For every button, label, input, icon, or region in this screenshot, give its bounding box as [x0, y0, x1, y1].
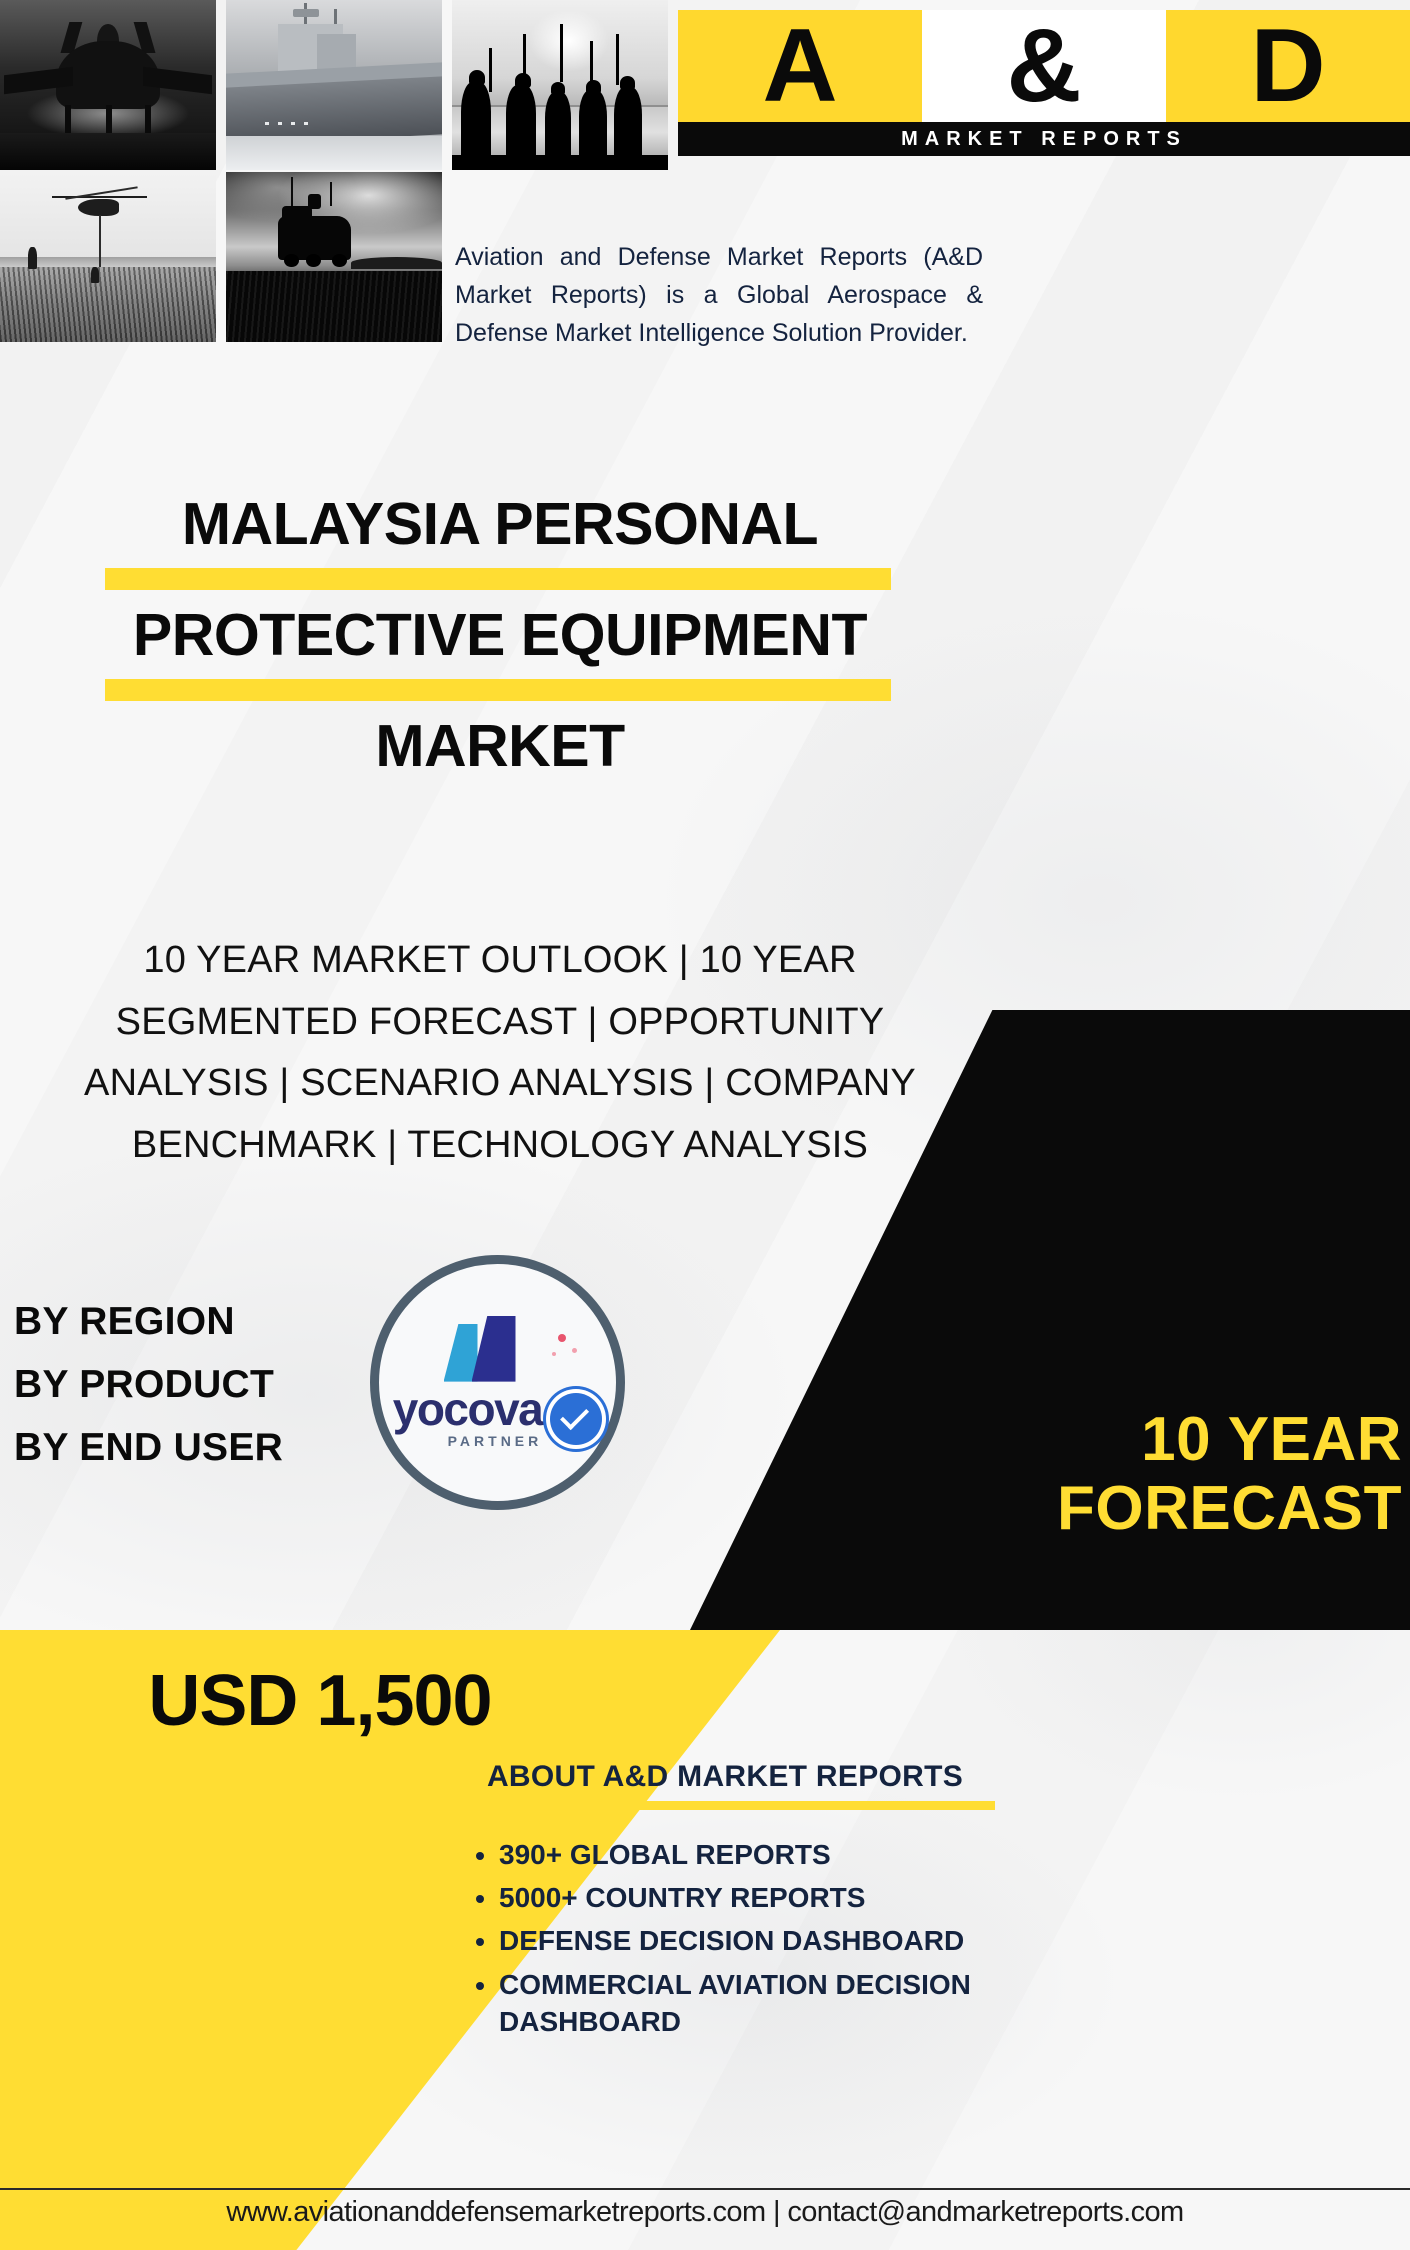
company-intro-text: Aviation and Defense Market Reports (A&D…	[455, 238, 983, 352]
company-intro: Aviation and Defense Market Reports (A&D…	[455, 238, 983, 352]
logo-letters: A & D	[678, 10, 1410, 122]
about-bullet-global-reports: 390+ GLOBAL REPORTS	[499, 1836, 995, 1873]
segmentation-item-region: BY REGION	[14, 1290, 283, 1353]
about-bullet-country-reports: 5000+ COUNTRY REPORTS	[499, 1879, 995, 1916]
logo-letter-ampersand: &	[922, 10, 1166, 122]
ad-market-reports-logo[interactable]: A & D MARKET REPORTS	[678, 4, 1410, 156]
title-line-1: MALAYSIA PERSONAL	[0, 495, 1000, 554]
yocova-role: PARTNER	[448, 1433, 543, 1449]
forecast-line-2: FORECAST	[710, 1474, 1402, 1543]
about-bullet-list: 390+ GLOBAL REPORTS 5000+ COUNTRY REPORT…	[499, 1836, 995, 2040]
title-line-3: MARKET	[0, 717, 1000, 776]
logo-tagline: MARKET REPORTS	[901, 128, 1187, 151]
logo-letter-d: D	[1166, 10, 1410, 122]
yocova-sail-icon	[444, 1316, 536, 1384]
soldiers-silhouette-photo	[452, 0, 668, 170]
aircraft-carrier-photo	[226, 0, 442, 170]
footer-contact[interactable]: www.aviationanddefensemarketreports.com …	[0, 2196, 1410, 2229]
yocova-wordmark-row: yocova PARTNER	[393, 1388, 603, 1450]
segmentation-item-end-user: BY END USER	[14, 1416, 283, 1479]
about-bullet-defense-dashboard: DEFENSE DECISION DASHBOARD	[499, 1922, 995, 1959]
footer-divider	[0, 2188, 1410, 2190]
logo-tagline-bar: MARKET REPORTS	[678, 122, 1410, 156]
yocova-name: yocova	[393, 1388, 543, 1432]
about-section: ABOUT A&D MARKET REPORTS 390+ GLOBAL REP…	[455, 1760, 995, 2046]
report-cover-page: A & D MARKET REPORTS Aviation and Defens…	[0, 0, 1410, 2250]
segmentation-item-product: BY PRODUCT	[14, 1353, 283, 1416]
logo-letter-a: A	[678, 10, 922, 122]
title-divider-2	[105, 679, 891, 701]
helicopter-fast-rope-photo	[0, 172, 216, 342]
yocova-partner-badge: yocova PARTNER	[370, 1255, 625, 1510]
about-heading-underline	[455, 1801, 995, 1810]
report-scope-subtitle: 10 YEAR MARKET OUTLOOK | 10 YEAR SEGMENT…	[20, 930, 980, 1176]
title-line-2: PROTECTIVE EQUIPMENT	[0, 606, 1000, 665]
report-title: MALAYSIA PERSONAL PROTECTIVE EQUIPMENT M…	[0, 495, 1000, 776]
price-label: USD 1,500	[0, 1660, 640, 1742]
forecast-line-1: 10 YEAR	[710, 1405, 1402, 1474]
yocova-wordmark: yocova PARTNER	[393, 1388, 543, 1450]
armored-vehicle-photo	[226, 172, 442, 342]
forecast-badge: 10 YEAR FORECAST	[710, 1405, 1410, 1544]
segmentation-list: BY REGION BY PRODUCT BY END USER	[14, 1290, 283, 1480]
check-badge-icon	[550, 1393, 602, 1445]
title-divider-1	[105, 568, 891, 590]
about-heading: ABOUT A&D MARKET REPORTS	[455, 1760, 995, 1794]
fighter-jet-photo	[0, 0, 216, 170]
about-bullet-aviation-dashboard: COMMERCIAL AVIATION DECISION DASHBOARD	[499, 1966, 995, 2040]
